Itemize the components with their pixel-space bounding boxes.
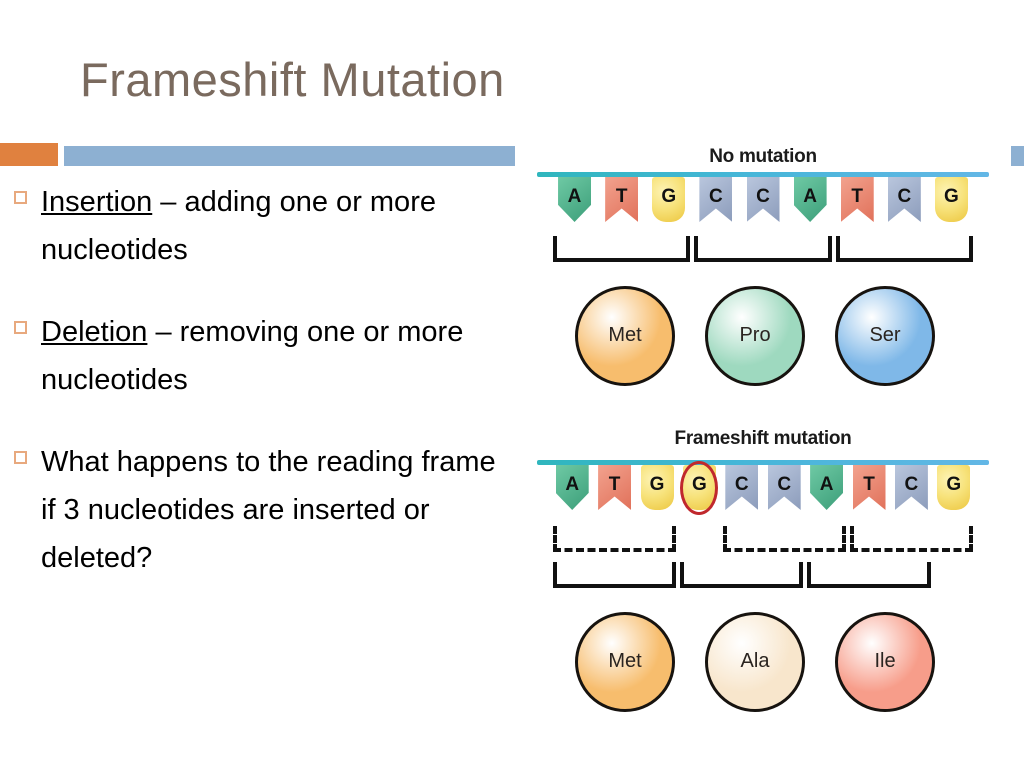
nucleotide-flag-a: A [810,465,843,510]
nucleotide-flag-t: T [853,465,886,510]
list-item-term: Deletion [41,316,147,348]
amino-acid-circle: Ala [705,612,805,712]
codon-bracket-solid [807,562,930,588]
dna-strand-no-mutation: ATGCCATCG [515,172,1011,238]
amino-acid-circle: Ile [835,612,935,712]
codon-bracket-dashed [850,526,973,552]
amino-acid-row-frameshift: MetAlaIle [515,612,1011,718]
nucleotide-letter: T [853,465,886,499]
codon-brackets-solid-frameshift [515,562,1011,596]
nucleotide-letter: C [725,465,758,499]
square-bullet-icon [14,191,27,204]
nucleotide-letter: G [652,177,685,211]
square-bullet-icon [14,321,27,334]
amino-acid-circle: Met [575,612,675,712]
list-item-text: What happens to the reading frame if 3 n… [41,438,503,582]
amino-acid-label: Ser [869,324,900,347]
nucleotide-letter: C [895,465,928,499]
nucleotide-letter: G [641,465,674,499]
nucleotide-letter: C [768,465,801,499]
nucleotide-flag-c: C [895,465,928,510]
amino-acid-label: Ile [874,650,895,673]
codon-bracket-solid [680,562,803,588]
nucleotide-flag-a: A [556,465,589,510]
codon-bracket-solid [553,236,690,262]
codon-bracket-dashed [723,526,846,552]
nucleotide-flag-c: C [888,177,921,222]
amino-acid-label: Pro [739,324,770,347]
codon-bracket-solid [694,236,831,262]
nucleotide-letter: A [556,465,589,499]
list-item: What happens to the reading frame if 3 n… [8,438,503,582]
square-bullet-icon [14,451,27,464]
codon-brackets-no-mutation [515,236,1011,270]
amino-acid-row-no-mutation: MetProSer [515,286,1011,392]
list-item-rest: What happens to the reading frame if 3 n… [41,446,496,574]
bullet-list: Insertion – adding one or more nucleotid… [8,178,503,616]
list-item-text: Deletion – removing one or more nucleoti… [41,308,503,404]
list-item-text: Insertion – adding one or more nucleotid… [41,178,503,274]
nucleotide-flag-t: T [605,177,638,222]
nucleotide-flag-c: C [768,465,801,510]
nucleotide-flag-c: C [699,177,732,222]
diagram-heading-frameshift: Frameshift mutation [515,428,1011,450]
nucleotide-flag-g: G [935,177,968,222]
amino-acid-circle: Pro [705,286,805,386]
amino-acid-circle: Met [575,286,675,386]
nucleotide-letter: G [935,177,968,211]
nucleotide-flag-t: T [598,465,631,510]
codon-brackets-dashed-frameshift [515,526,1011,560]
list-item: Deletion – removing one or more nucleoti… [8,308,503,404]
frameshift-diagram: No mutation Frameshift mutation ATGCCATC… [515,138,1011,766]
amino-acid-label: Ala [741,650,770,673]
amino-acid-label: Met [608,324,641,347]
list-item-term: Insertion [41,186,152,218]
codon-bracket-dashed [553,526,676,552]
amino-acid-label: Met [608,650,641,673]
codon-bracket-solid [836,236,973,262]
nucleotide-letter: A [794,177,827,211]
nucleotide-flag-a: A [794,177,827,222]
nucleotide-letter: C [888,177,921,211]
nucleotide-flag-a: A [558,177,591,222]
nucleotide-letter: T [598,465,631,499]
codon-bracket-solid [553,562,676,588]
nucleotide-letter: A [810,465,843,499]
nucleotide-letter: T [605,177,638,211]
amino-acid-circle: Ser [835,286,935,386]
accent-bar-orange [0,143,58,166]
nucleotide-letter: G [937,465,970,499]
nucleotide-flag-g: G [652,177,685,222]
nucleotide-flag-g: G [937,465,970,510]
diagram-heading-no-mutation: No mutation [515,146,1011,168]
nucleotide-letter: T [841,177,874,211]
dna-strand-frameshift: ATGGCCATCG [515,460,1011,526]
nucleotide-flag-c: C [747,177,780,222]
nucleotide-flag-c: C [725,465,758,510]
nucleotide-letter: C [699,177,732,211]
nucleotide-letter: C [747,177,780,211]
nucleotide-flag-t: T [841,177,874,222]
nucleotide-letter: A [558,177,591,211]
list-item: Insertion – adding one or more nucleotid… [8,178,503,274]
page-title: Frameshift Mutation [80,52,505,107]
nucleotide-flag-g: G [641,465,674,510]
